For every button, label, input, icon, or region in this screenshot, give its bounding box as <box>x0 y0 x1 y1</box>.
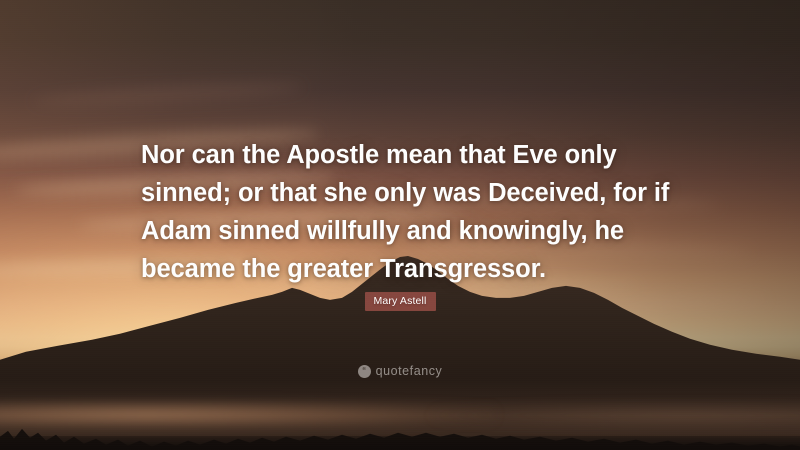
quote-poster: Nor can the Apostle mean that Eve only s… <box>0 0 800 450</box>
watermark-brand-text: quotefancy <box>376 364 443 378</box>
quote-mark-logo-icon: “ <box>358 365 371 378</box>
author-attribution: Mary Astell <box>0 291 800 311</box>
quote-text: Nor can the Apostle mean that Eve only s… <box>141 136 681 288</box>
watermark: “ quotefancy <box>0 364 800 378</box>
author-name-badge: Mary Astell <box>365 292 436 311</box>
bottom-vignette <box>0 436 800 450</box>
